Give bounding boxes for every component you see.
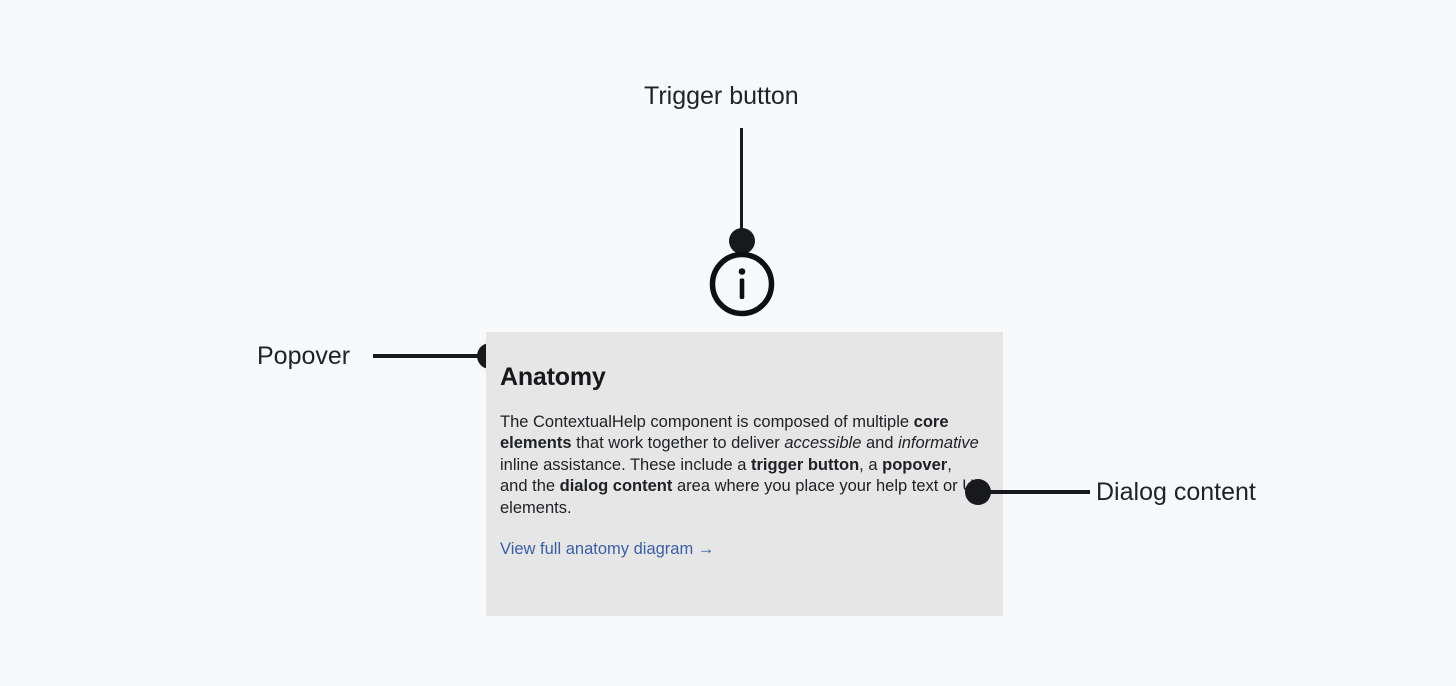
- info-circle-icon-svg: [708, 250, 776, 318]
- popover-body-italic: informative: [898, 434, 979, 452]
- popover-body-italic: accessible: [784, 434, 861, 452]
- popover-body-emphasis: core elements: [500, 413, 949, 453]
- leader-line-trigger-button: [740, 128, 743, 243]
- view-full-anatomy-diagram-link[interactable]: View full anatomy diagram →: [500, 540, 714, 560]
- popover-body-emphasis: dialog content: [560, 477, 673, 495]
- callout-label-popover: Popover: [257, 344, 350, 369]
- popover-body-emphasis: popover: [882, 456, 947, 474]
- popover-body-text: The ContextualHelp component is composed…: [500, 412, 979, 520]
- popover-panel: Anatomy The ContextualHelp component is …: [486, 332, 1003, 616]
- callout-label-dialog-content: Dialog content: [1096, 480, 1256, 505]
- callout-label-trigger-button: Trigger button: [644, 84, 799, 109]
- info-circle-icon[interactable]: [708, 250, 776, 318]
- leader-line-dialog-content: [978, 490, 1090, 494]
- anatomy-diagram-canvas: Trigger button Popover Anatomy The Conte…: [0, 0, 1456, 686]
- popover-body-emphasis: trigger button: [751, 456, 859, 474]
- popover-title: Anatomy: [500, 364, 979, 392]
- leader-line-popover: [373, 354, 491, 358]
